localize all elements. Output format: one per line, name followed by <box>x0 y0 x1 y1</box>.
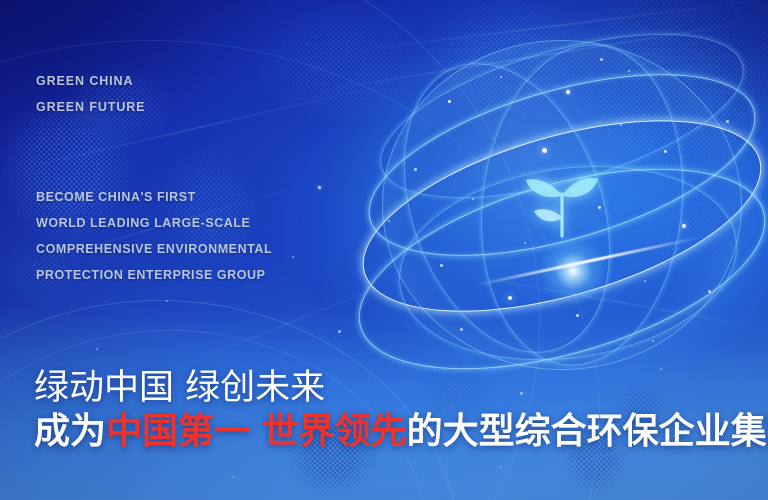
headline-prefix: 成为 <box>34 411 106 452</box>
slogan-top: GREEN CHINA GREEN FUTURE <box>36 68 145 120</box>
headline-line-2: 成为中国第一 世界领先的大型综合环保企业集团 <box>34 410 768 454</box>
slogan-top-line-1: GREEN CHINA <box>36 68 145 94</box>
hero-banner: GREEN CHINA GREEN FUTURE BECOME CHINA'S … <box>0 0 768 500</box>
slogan-body: BECOME CHINA'S FIRST WORLD LEADING LARGE… <box>36 184 272 288</box>
headline-suffix: 的大型综合环保企业集团 <box>407 411 768 452</box>
headline-accent: 中国第一 世界领先 <box>106 411 407 452</box>
wireframe-globe <box>352 28 768 378</box>
slogan-body-line-2: WORLD LEADING LARGE-SCALE <box>36 210 272 236</box>
headline: 绿动中国 绿创未来 成为中国第一 世界领先的大型综合环保企业集团 <box>34 366 768 454</box>
slogan-body-line-1: BECOME CHINA'S FIRST <box>36 184 272 210</box>
headline-line-1: 绿动中国 绿创未来 <box>34 366 768 410</box>
slogan-body-line-4: PROTECTION ENTERPRISE GROUP <box>36 262 272 288</box>
slogan-body-line-3: COMPREHENSIVE ENVIRONMENTAL <box>36 236 272 262</box>
sprout-seedling-icon <box>520 158 604 254</box>
slogan-top-line-2: GREEN FUTURE <box>36 94 145 120</box>
